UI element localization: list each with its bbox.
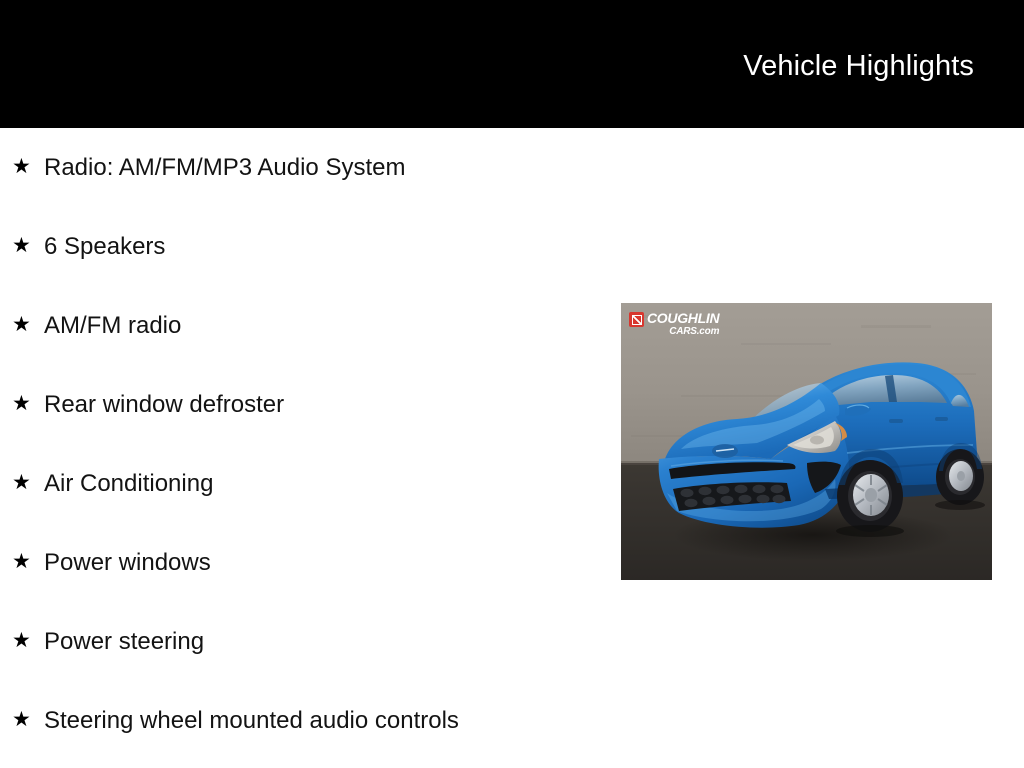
- list-item-label: Air Conditioning: [44, 444, 213, 497]
- list-item-label: Power windows: [44, 523, 211, 576]
- star-icon: ★: [12, 551, 31, 572]
- header-bar: Vehicle Highlights: [0, 0, 1024, 128]
- star-icon: ★: [12, 393, 31, 414]
- star-icon: ★: [12, 472, 31, 493]
- list-item-label: 6 Speakers: [44, 207, 165, 260]
- list-item: ★ Rear window defroster: [0, 365, 620, 444]
- vehicle-photo: COUGHLIN CARS.com: [621, 303, 992, 580]
- list-item: ★ AM/FM radio: [0, 286, 620, 365]
- list-item: ★ 6 Speakers: [0, 207, 620, 286]
- star-icon: ★: [12, 630, 31, 651]
- star-icon: ★: [12, 235, 31, 256]
- vehicle-photo-illustration: [621, 303, 992, 580]
- list-item: ★ Steering wheel mounted audio controls: [0, 681, 620, 760]
- page-title: Vehicle Highlights: [743, 51, 974, 81]
- list-item-label: Rear window defroster: [44, 365, 284, 418]
- star-icon: ★: [12, 156, 31, 177]
- list-item: ★ Power windows: [0, 523, 620, 602]
- star-icon: ★: [12, 314, 31, 335]
- list-item: ★ Air Conditioning: [0, 444, 620, 523]
- list-item-label: Power steering: [44, 602, 204, 655]
- list-item: ★ Power steering: [0, 602, 620, 681]
- vehicle-highlights-list: ★ Radio: AM/FM/MP3 Audio System ★ 6 Spea…: [0, 128, 620, 760]
- list-item-label: Radio: AM/FM/MP3 Audio System: [44, 128, 405, 181]
- star-icon: ★: [12, 709, 31, 730]
- list-item-label: Steering wheel mounted audio controls: [44, 681, 459, 734]
- list-item: ★ Radio: AM/FM/MP3 Audio System: [0, 128, 620, 207]
- list-item-label: AM/FM radio: [44, 286, 181, 339]
